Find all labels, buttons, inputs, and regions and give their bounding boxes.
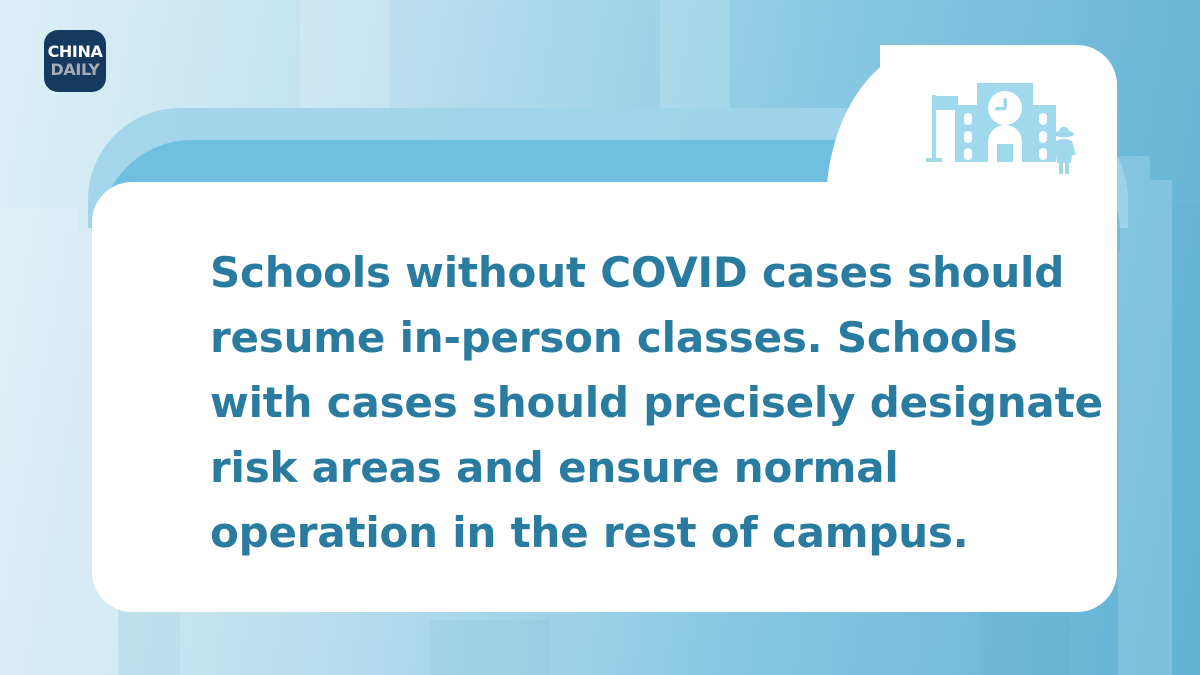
- logo-line-china: CHINA: [48, 44, 103, 60]
- headline-line: risk areas and ensure normal: [210, 435, 1020, 500]
- person-figure-icon: [1052, 127, 1076, 174]
- headline-line: resume in-person classes. Schools: [210, 305, 1020, 370]
- window-icon: [1039, 131, 1047, 143]
- headline-line: operation in the rest of campus.: [210, 500, 1020, 565]
- window-icon: [1039, 148, 1047, 160]
- window-icon: [1039, 113, 1047, 125]
- skyline-shape: [1118, 156, 1150, 675]
- skyline-shape: [300, 0, 390, 120]
- logo-line-daily: DAILY: [51, 62, 100, 78]
- skyline-shape: [980, 612, 1070, 675]
- headline-line: with cases should precisely designate: [210, 370, 1020, 435]
- skyline-shape: [660, 0, 730, 110]
- headline-line: Schools without COVID cases should: [210, 240, 1020, 305]
- poster-canvas: CHINA DAILY: [0, 0, 1200, 675]
- skyline-shape: [0, 208, 78, 675]
- window-icon: [964, 131, 972, 143]
- window-icon: [964, 113, 972, 125]
- school-campus-illustration: [915, 82, 1085, 187]
- flag-pole-icon: [926, 95, 958, 162]
- skyline-shape: [1172, 205, 1200, 675]
- window-icon: [964, 148, 972, 160]
- china-daily-logo[interactable]: CHINA DAILY: [44, 30, 106, 92]
- headline-text: Schools without COVID cases should resum…: [210, 240, 1020, 565]
- skyline-shape: [1150, 180, 1172, 675]
- skyline-shape: [430, 620, 550, 675]
